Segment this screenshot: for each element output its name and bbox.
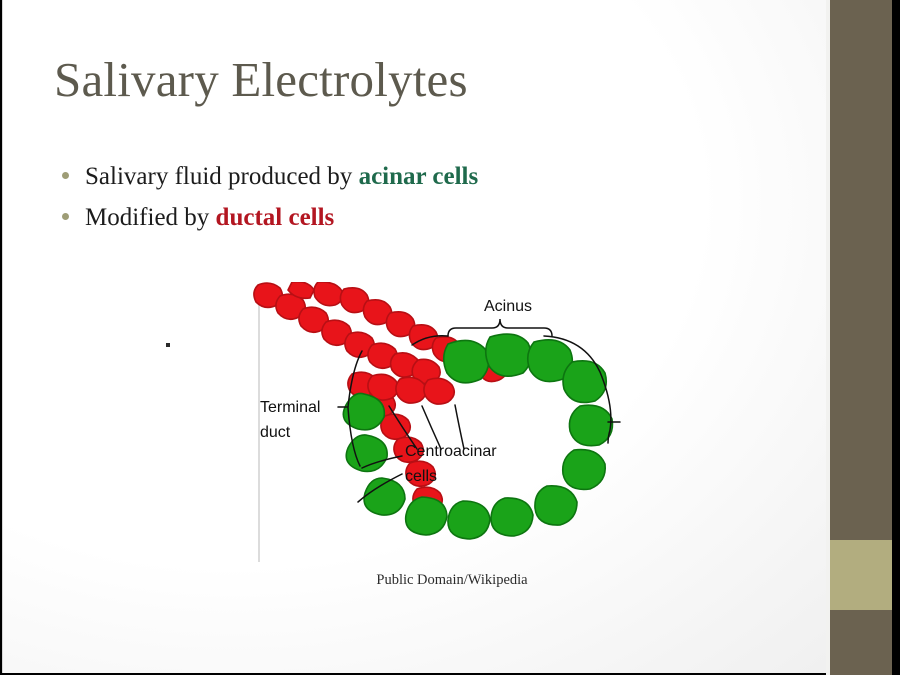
label-centroacinar-line2: cells [405, 468, 437, 485]
rail-accent-block [830, 540, 892, 610]
page-title: Salivary Electrolytes [54, 54, 468, 105]
label-centroacinar-line1: Centroacinar [405, 443, 497, 460]
label-acinus: Acinus [484, 298, 532, 315]
bullet-lead-text: Salivary fluid produced by [85, 163, 359, 190]
bullet-dot-icon [62, 172, 69, 179]
stray-dot-artifact [166, 343, 170, 347]
bullet-text: Salivary fluid produced by acinar cells [85, 162, 478, 192]
bullet-emphasis-acinar-cells: acinar cells [359, 163, 479, 190]
bullet-dot-icon [62, 213, 69, 220]
outer-border-right [892, 0, 900, 675]
list-item: Modified by ductal cells [62, 203, 762, 233]
label-terminal-duct-line2: duct [260, 424, 291, 441]
label-terminal-duct-line1: Terminal [260, 399, 320, 416]
acinus-diagram-svg: .gc { fill:#1aa319; stroke:#0d7510; stro… [252, 282, 652, 594]
acinus-diagram: .gc { fill:#1aa319; stroke:#0d7510; stro… [252, 282, 652, 594]
centroacinar-cells-group [368, 374, 454, 404]
list-item: Salivary fluid produced by acinar cells [62, 162, 762, 192]
bullet-lead-text: Modified by [85, 204, 216, 231]
bullet-list: Salivary fluid produced by acinar cells … [62, 162, 762, 243]
figure-caption: Public Domain/Wikipedia [252, 572, 652, 589]
bullet-text: Modified by ductal cells [85, 203, 334, 233]
bullet-emphasis-ductal-cells: ductal cells [216, 204, 335, 231]
slide-canvas: Salivary Electrolytes Salivary fluid pro… [2, 0, 830, 673]
decorative-rail [830, 0, 892, 675]
slide-root: Salivary Electrolytes Salivary fluid pro… [0, 0, 900, 675]
